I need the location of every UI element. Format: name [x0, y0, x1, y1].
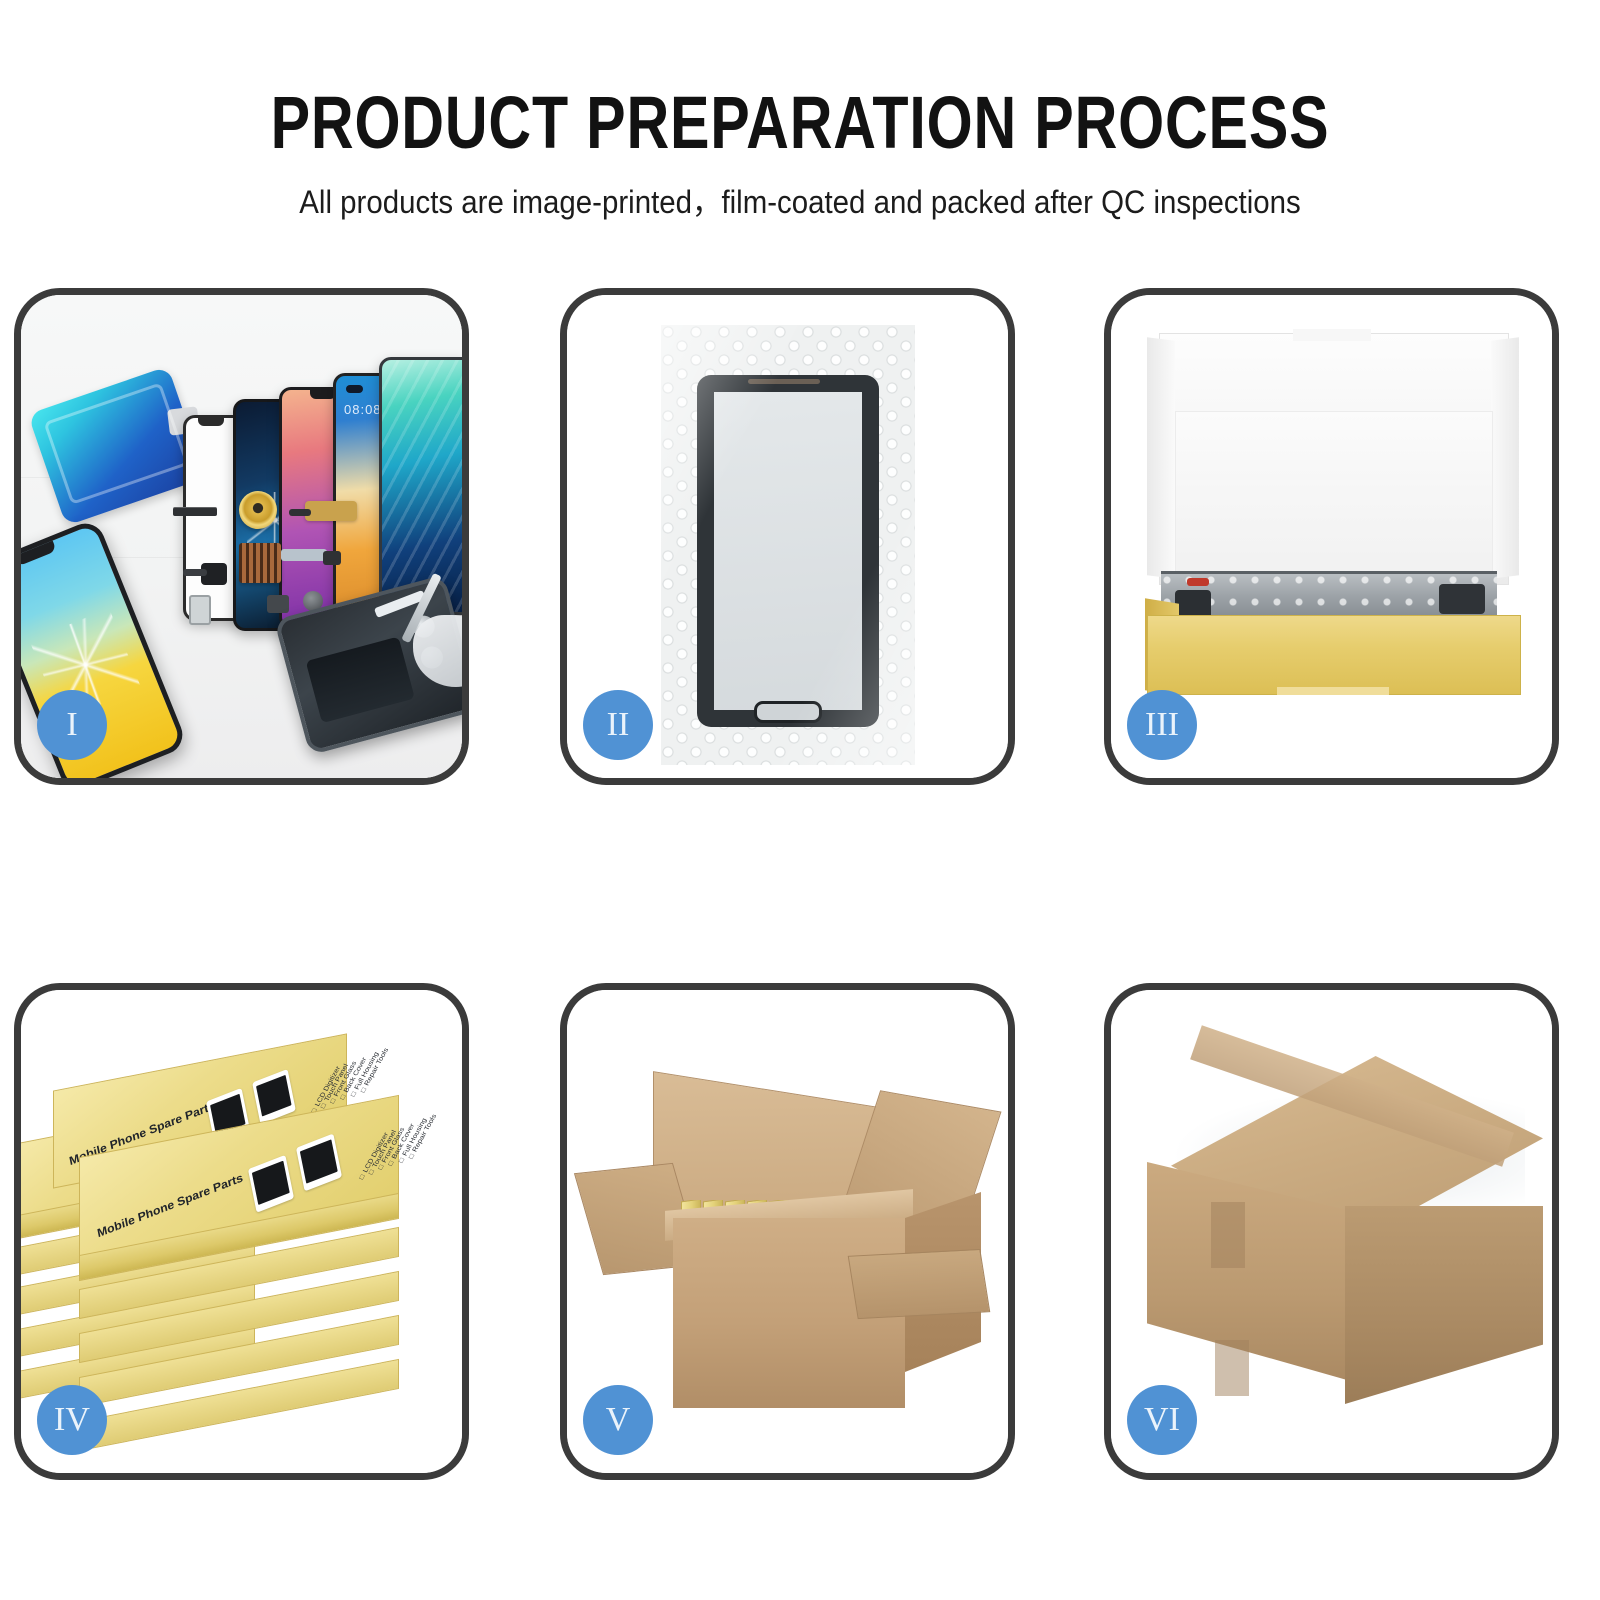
packing-tape [1215, 1340, 1249, 1396]
part-sim-tray [189, 595, 211, 625]
phone-teal-display [379, 357, 462, 615]
part-flex-cable [305, 501, 357, 521]
mailer-box-open [1147, 333, 1519, 693]
packing-tape [1211, 1202, 1245, 1268]
part-wireless-coil [239, 491, 277, 529]
step-badge-5: V [583, 1385, 653, 1455]
page-subtitle: All products are image-printed，film-coat… [64, 186, 1536, 218]
part-earpiece-mesh [173, 507, 217, 516]
step-badge-6: VI [1127, 1385, 1197, 1455]
process-grid: 08:08 I [14, 288, 1586, 1480]
step-badge-1: I [37, 690, 107, 760]
step-badge-2: II [583, 690, 653, 760]
step-card-4[interactable]: Mobile Phone Spare Parts LCD Digitizer T… [14, 983, 469, 1480]
page-header: PRODUCT PREPARATION PROCESS All products… [0, 0, 1600, 218]
step-card-6[interactable]: VI [1104, 983, 1559, 1480]
retail-box-thumb [248, 1155, 294, 1213]
step-badge-4: IV [37, 1385, 107, 1455]
shipping-carton-open [595, 1082, 981, 1414]
step-badge-3: III [1127, 690, 1197, 760]
part-speaker [267, 595, 289, 613]
part-ribbon-cable [281, 549, 327, 561]
retail-box-thumb [296, 1133, 342, 1191]
process-row-1: 08:08 I [14, 288, 1586, 785]
step-card-1[interactable]: 08:08 I [14, 288, 469, 785]
retail-box-stack: Mobile Phone Spare Parts LCD Digitizer T… [21, 1038, 462, 1438]
page-title: PRODUCT PREPARATION PROCESS [160, 86, 1440, 160]
step-card-5[interactable]: V [560, 983, 1015, 1480]
part-ic-chip [239, 543, 281, 583]
step-card-2[interactable]: II [560, 288, 1015, 785]
process-row-2: Mobile Phone Spare Parts LCD Digitizer T… [14, 983, 1586, 1480]
step-card-3[interactable]: III [1104, 288, 1559, 785]
bubble-wrap-package [661, 325, 915, 765]
part-camera-module [201, 563, 227, 585]
shipping-carton-sealed [1135, 1056, 1543, 1404]
